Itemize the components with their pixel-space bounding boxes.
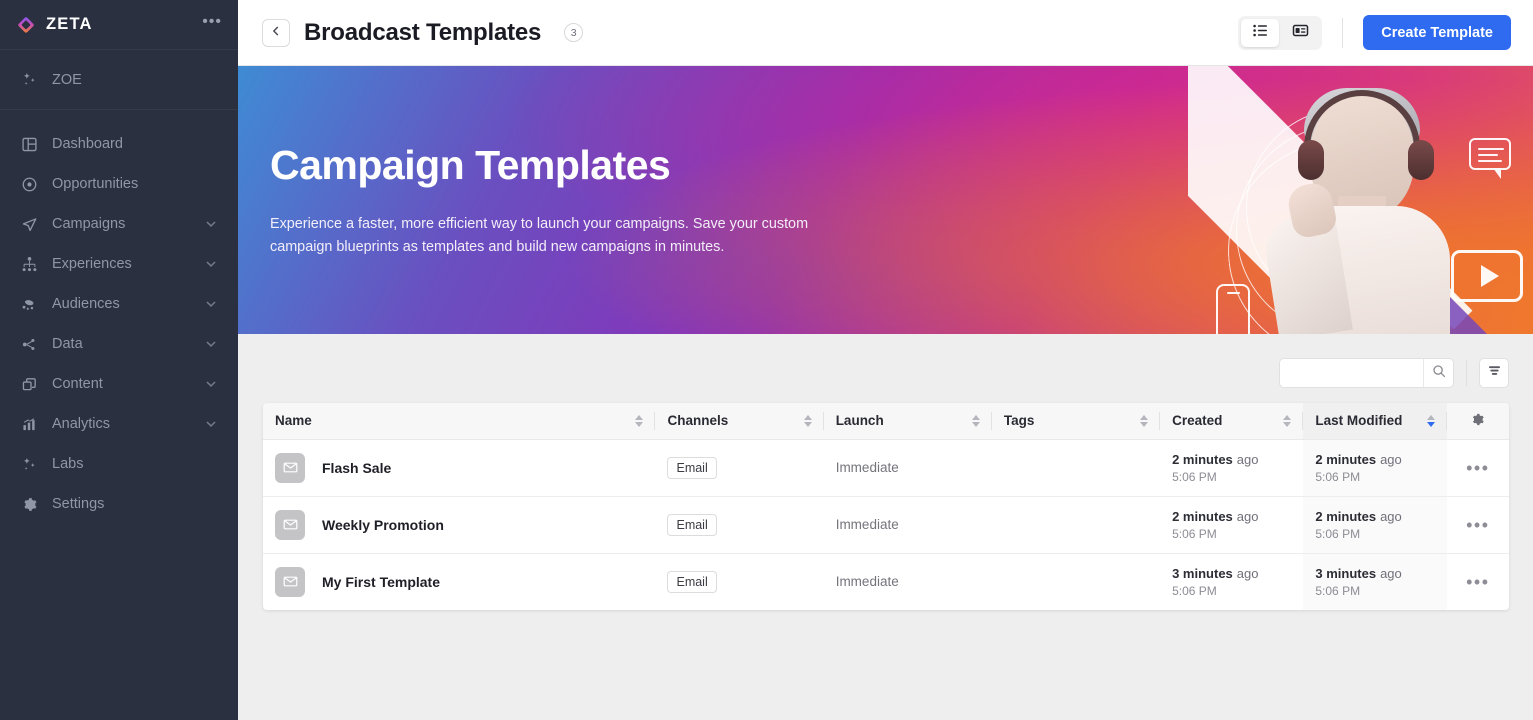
app-root: ZETA ••• ZOE Dashbo — [0, 0, 1533, 720]
filter-button[interactable] — [1479, 358, 1509, 388]
template-count-badge: 3 — [564, 23, 583, 42]
cell-launch: Immediate — [824, 439, 992, 496]
created-ago-label: ago — [1237, 509, 1259, 524]
created-ago-label: ago — [1237, 566, 1259, 581]
hero-text-block: Campaign Templates Experience a faster, … — [238, 66, 878, 259]
sidebar-item-label: Campaigns — [52, 216, 190, 232]
sidebar-item-opportunities[interactable]: Opportunities — [0, 164, 238, 204]
sidebar-item-label: Dashboard — [52, 136, 218, 152]
template-name-link[interactable]: Weekly Promotion — [322, 517, 444, 533]
table-row[interactable]: Flash Sale Email Immediate — [263, 439, 1509, 496]
sort-toggle-icon[interactable] — [635, 415, 643, 427]
cell-launch: Immediate — [824, 553, 992, 610]
template-name-link[interactable]: My First Template — [322, 574, 440, 590]
table-body: Flash Sale Email Immediate — [263, 439, 1509, 610]
create-template-button[interactable]: Create Template — [1363, 15, 1511, 50]
column-label: Last Modified — [1315, 413, 1402, 428]
modified-relative-value: 2 minutes — [1315, 452, 1376, 467]
headphone-cup-right — [1408, 140, 1434, 180]
sidebar-item-content[interactable]: Content — [0, 364, 238, 404]
toolbar-divider — [1466, 360, 1467, 386]
sort-toggle-icon[interactable] — [972, 415, 980, 427]
cell-name: Flash Sale — [263, 439, 655, 496]
hero-artwork — [1188, 66, 1533, 334]
search-icon — [1432, 364, 1446, 383]
cell-channels: Email — [655, 439, 823, 496]
cell-row-actions: ••• — [1447, 553, 1509, 610]
column-label: Name — [275, 413, 312, 428]
target-icon — [20, 175, 38, 193]
sparkles-icon — [20, 455, 38, 473]
card-view-icon — [1292, 22, 1309, 44]
cell-launch: Immediate — [824, 496, 992, 553]
column-label: Tags — [1004, 413, 1035, 428]
gear-icon — [1470, 415, 1485, 430]
cell-name: Weekly Promotion — [263, 496, 655, 553]
chat-bubble-icon — [1469, 138, 1511, 170]
chevron-left-icon — [270, 24, 282, 42]
cell-tags — [992, 496, 1160, 553]
back-button[interactable] — [262, 19, 290, 47]
sort-toggle-icon[interactable] — [1283, 415, 1291, 427]
chevron-down-icon[interactable] — [204, 377, 218, 391]
envelope-icon — [275, 567, 305, 597]
row-menu-icon[interactable]: ••• — [1459, 578, 1497, 586]
sidebar-item-dashboard[interactable]: Dashboard — [0, 124, 238, 164]
modified-time: 5:06 PM — [1315, 470, 1434, 484]
modified-ago-label: ago — [1380, 452, 1402, 467]
table-header-row: Name Channels — [263, 403, 1509, 439]
list-view-icon — [1252, 22, 1269, 44]
created-relative-value: 2 minutes — [1172, 452, 1233, 467]
cell-last-modified: 2 minutesago 5:06 PM — [1303, 439, 1446, 496]
modified-time: 5:06 PM — [1315, 584, 1434, 598]
channel-badge: Email — [667, 571, 716, 593]
launch-value: Immediate — [836, 574, 899, 589]
created-relative: 3 minutesago — [1172, 566, 1291, 581]
sidebar-item-label: Labs — [52, 456, 218, 472]
search-input[interactable] — [1280, 359, 1423, 387]
sort-toggle-icon[interactable] — [1140, 415, 1148, 427]
hero-banner: Campaign Templates Experience a faster, … — [238, 66, 1533, 334]
search-button[interactable] — [1423, 359, 1453, 387]
gear-icon — [20, 495, 38, 513]
row-menu-icon[interactable]: ••• — [1459, 464, 1497, 472]
launch-value: Immediate — [836, 460, 899, 475]
created-relative-value: 2 minutes — [1172, 509, 1233, 524]
template-name-link[interactable]: Flash Sale — [322, 460, 391, 476]
sidebar-menu-icon[interactable]: ••• — [202, 17, 222, 33]
created-relative: 2 minutesago — [1172, 452, 1291, 467]
sidebar-item-zoe[interactable]: ZOE — [0, 50, 238, 110]
launch-value: Immediate — [836, 517, 899, 532]
data-nodes-icon — [20, 335, 38, 353]
cell-name: My First Template — [263, 553, 655, 610]
send-icon — [20, 215, 38, 233]
sidebar-item-data[interactable]: Data — [0, 324, 238, 364]
column-settings-button[interactable] — [1447, 403, 1509, 439]
modified-ago-label: ago — [1380, 509, 1402, 524]
sidebar-item-label: Settings — [52, 496, 218, 512]
created-time: 5:06 PM — [1172, 584, 1291, 598]
chevron-down-icon[interactable] — [204, 417, 218, 431]
column-header-created[interactable]: Created — [1160, 403, 1303, 439]
modified-relative-value: 2 minutes — [1315, 509, 1376, 524]
row-menu-icon[interactable]: ••• — [1459, 521, 1497, 529]
modified-ago-label: ago — [1380, 566, 1402, 581]
modified-relative: 2 minutesago — [1315, 452, 1434, 467]
cell-created: 3 minutesago 5:06 PM — [1160, 553, 1303, 610]
cell-row-actions: ••• — [1447, 439, 1509, 496]
dashboard-icon — [20, 135, 38, 153]
list-view-button[interactable] — [1241, 19, 1279, 47]
play-button-icon — [1451, 250, 1523, 302]
cell-tags — [992, 439, 1160, 496]
column-label: Channels — [667, 413, 728, 428]
page-title: Broadcast Templates — [304, 19, 541, 47]
table-toolbar — [263, 358, 1509, 388]
sparkles-icon — [20, 71, 38, 89]
cell-row-actions: ••• — [1447, 496, 1509, 553]
modified-relative-value: 3 minutes — [1315, 566, 1376, 581]
hero-subtitle: Experience a faster, more efficient way … — [270, 213, 850, 259]
topbar-divider — [1342, 18, 1343, 48]
created-time: 5:06 PM — [1172, 527, 1291, 541]
sidebar-item-label: Content — [52, 376, 190, 392]
sidebar-brand: ZETA ••• — [0, 0, 238, 50]
channel-badge: Email — [667, 514, 716, 536]
sort-toggle-icon-active[interactable] — [1427, 415, 1435, 427]
chevron-down-icon[interactable] — [204, 297, 218, 311]
cell-last-modified: 2 minutesago 5:06 PM — [1303, 496, 1446, 553]
bar-chart-icon — [20, 415, 38, 433]
templates-table: Name Channels — [263, 403, 1509, 610]
cell-created: 2 minutesago 5:06 PM — [1160, 496, 1303, 553]
cell-channels: Email — [655, 553, 823, 610]
column-header-launch[interactable]: Launch — [824, 403, 992, 439]
column-header-name[interactable]: Name — [263, 403, 655, 439]
channel-badge: Email — [667, 457, 716, 479]
chevron-down-icon[interactable] — [204, 337, 218, 351]
sidebar-item-label: Analytics — [52, 416, 190, 432]
column-header-channels[interactable]: Channels — [655, 403, 823, 439]
modified-relative: 3 minutesago — [1315, 566, 1434, 581]
chevron-down-icon[interactable] — [204, 257, 218, 271]
cell-created: 2 minutesago 5:06 PM — [1160, 439, 1303, 496]
created-relative-value: 3 minutes — [1172, 566, 1233, 581]
column-label: Created — [1172, 413, 1222, 428]
sidebar-item-zoe-label: ZOE — [52, 72, 82, 88]
top-bar: Broadcast Templates 3 — [238, 0, 1533, 66]
column-header-tags[interactable]: Tags — [992, 403, 1160, 439]
cell-tags — [992, 553, 1160, 610]
content-area: Name Channels — [238, 334, 1533, 720]
audiences-icon — [20, 295, 38, 313]
headphone-cup-left — [1298, 140, 1324, 180]
modified-time: 5:06 PM — [1315, 527, 1434, 541]
envelope-icon — [275, 453, 305, 483]
hierarchy-icon — [20, 255, 38, 273]
table-row[interactable]: My First Template Email Immediate — [263, 553, 1509, 610]
sort-toggle-icon[interactable] — [804, 415, 812, 427]
sidebar-item-settings[interactable]: Settings — [0, 484, 238, 524]
table-head: Name Channels — [263, 403, 1509, 439]
hero-title: Campaign Templates — [270, 144, 878, 187]
zeta-logo-icon — [16, 15, 36, 35]
sidebar-item-analytics[interactable]: Analytics — [0, 404, 238, 444]
sidebar-item-label: Experiences — [52, 256, 190, 272]
sidebar: ZETA ••• ZOE Dashbo — [0, 0, 238, 720]
created-time: 5:06 PM — [1172, 470, 1291, 484]
chevron-down-icon[interactable] — [204, 217, 218, 231]
table-row[interactable]: Weekly Promotion Email Immediate — [263, 496, 1509, 553]
sidebar-item-label: Audiences — [52, 296, 190, 312]
mobile-phone-icon — [1216, 284, 1250, 334]
sidebar-item-audiences[interactable]: Audiences — [0, 284, 238, 324]
sidebar-item-experiences[interactable]: Experiences — [0, 244, 238, 284]
cell-channels: Email — [655, 496, 823, 553]
column-label: Launch — [836, 413, 884, 428]
content-copy-icon — [20, 375, 38, 393]
view-mode-toggle — [1238, 16, 1322, 50]
column-header-last-modified[interactable]: Last Modified — [1303, 403, 1446, 439]
search-box — [1279, 358, 1454, 388]
modified-relative: 2 minutesago — [1315, 509, 1434, 524]
templates-table-card: Name Channels — [263, 403, 1509, 610]
sidebar-item-campaigns[interactable]: Campaigns — [0, 204, 238, 244]
sidebar-nav: Dashboard Opportunities Campaigns — [0, 110, 238, 524]
sidebar-brand-name: ZETA — [46, 15, 192, 34]
person-illustration — [1276, 88, 1456, 334]
envelope-icon — [275, 510, 305, 540]
sidebar-item-label: Data — [52, 336, 190, 352]
filter-icon — [1487, 363, 1502, 383]
cell-last-modified: 3 minutesago 5:06 PM — [1303, 553, 1446, 610]
created-relative: 2 minutesago — [1172, 509, 1291, 524]
main-area: Broadcast Templates 3 — [238, 0, 1533, 720]
sidebar-item-label: Opportunities — [52, 176, 218, 192]
created-ago-label: ago — [1237, 452, 1259, 467]
card-view-button[interactable] — [1281, 19, 1319, 47]
sidebar-item-labs[interactable]: Labs — [0, 444, 238, 484]
